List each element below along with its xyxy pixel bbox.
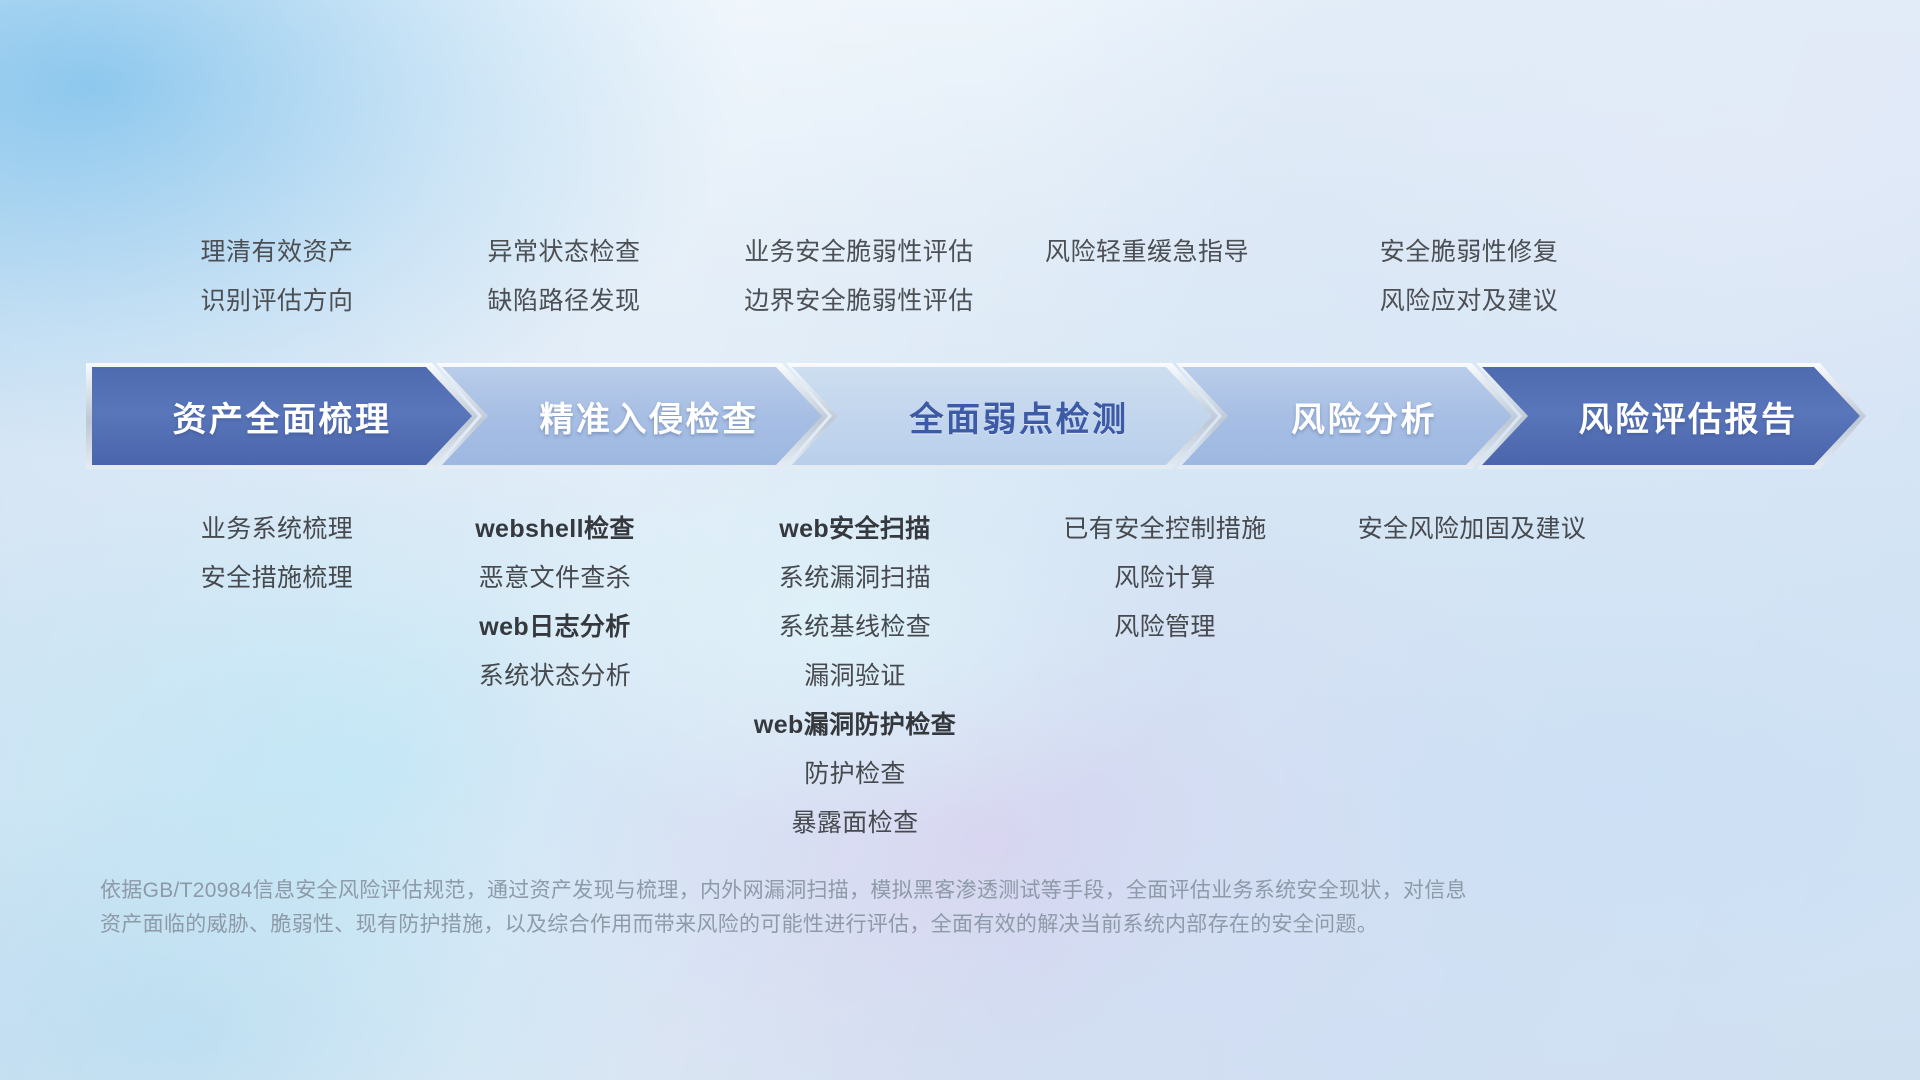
chevron-label-stage-intrusion-check: 精准入侵检查 [442, 392, 822, 441]
detail-item: 安全风险加固及建议 [1358, 505, 1587, 554]
top-caption-item: 风险应对及建议 [1380, 277, 1559, 326]
top-caption-item: 安全脆弱性修复 [1380, 228, 1559, 277]
chevron-stage-intrusion-check[interactable]: 精准入侵检查 [442, 367, 822, 465]
detail-item: 漏洞验证 [804, 652, 906, 701]
detail-item: 风险计算 [1114, 554, 1216, 603]
top-caption-item: 边界安全脆弱性评估 [744, 277, 974, 326]
chevron-label-stage-risk-report: 风险评估报告 [1482, 392, 1860, 441]
footer-line-2: 资产面临的威胁、脆弱性、现有防护措施，以及综合作用而带来风险的可能性进行评估，全… [100, 908, 1660, 942]
chevron-label-stage-risk-analysis: 风险分析 [1182, 392, 1512, 441]
top-caption-column-stage-risk-report: 安全脆弱性修复风险应对及建议 [1169, 228, 1769, 326]
chevron-stage-risk-report[interactable]: 风险评估报告 [1482, 367, 1860, 465]
detail-item: 防护检查 [804, 750, 906, 799]
chevron-stage-risk-analysis[interactable]: 风险分析 [1182, 367, 1512, 465]
detail-item: 风险管理 [1114, 603, 1216, 652]
footer-description: 依据GB/T20984信息安全风险评估规范，通过资产发现与梳理，内外网漏洞扫描，… [100, 874, 1660, 942]
chevron-label-stage-weakness-detection: 全面弱点检测 [792, 392, 1212, 441]
chevron-label-stage-asset-inventory: 资产全面梳理 [92, 392, 472, 441]
detail-item: web漏洞防护检查 [754, 701, 956, 750]
footer-line-1: 依据GB/T20984信息安全风险评估规范，通过资产发现与梳理，内外网漏洞扫描，… [100, 874, 1660, 908]
slide-canvas: 理清有效资产识别评估方向异常状态检查缺陷路径发现业务安全脆弱性评估边界安全脆弱性… [0, 0, 1920, 1080]
chevron-stage-weakness-detection[interactable]: 全面弱点检测 [792, 367, 1212, 465]
process-chevron-band: 资产全面梳理精准入侵检查全面弱点检测风险分析风险评估报告 [92, 367, 1860, 465]
detail-item: 暴露面检查 [791, 799, 918, 848]
chevron-stage-asset-inventory[interactable]: 资产全面梳理 [92, 367, 472, 465]
detail-column-stage-risk-report: 安全风险加固及建议 [1172, 505, 1772, 554]
